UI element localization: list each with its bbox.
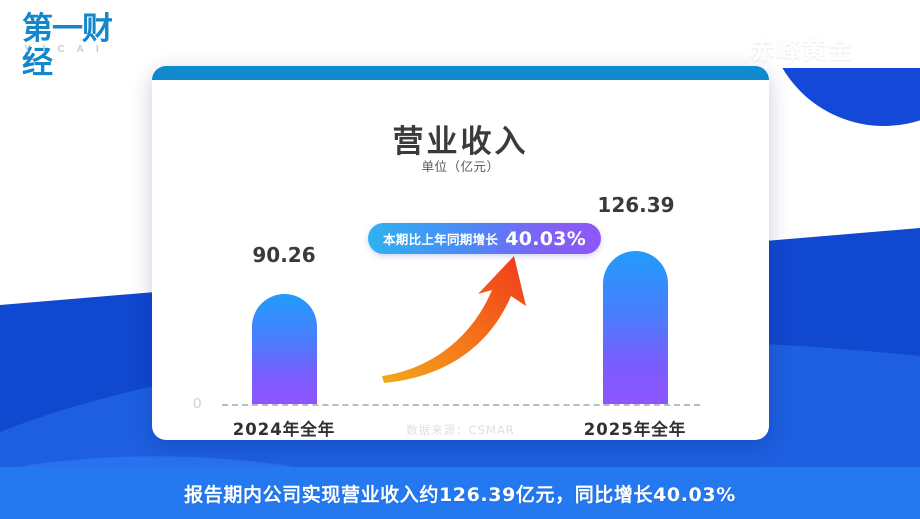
card-accent-strip bbox=[152, 66, 769, 80]
growth-badge: 本期比上年同期增长 40.03% bbox=[368, 223, 601, 254]
brand-logo-latin: YICAI bbox=[24, 44, 111, 55]
bar-2024 bbox=[252, 294, 317, 404]
caption-text: 报告期内公司实现营业收入约126.39亿元，同比增长40.03% bbox=[184, 480, 736, 507]
brand-logo: 第一财经 YICAI bbox=[22, 10, 140, 58]
caption-band: 报告期内公司实现营业收入约126.39亿元，同比增长40.03% bbox=[0, 467, 920, 519]
axis-zero-label: 0 bbox=[193, 395, 201, 412]
growth-label: 本期比上年同期增长 bbox=[383, 229, 498, 248]
bar-chart-plot: 0 90.26 2024年全年 126.39 2025年全年 bbox=[152, 80, 769, 440]
growth-value: 40.03% bbox=[505, 228, 586, 250]
card-body: 营业收入 单位（亿元） 0 90.26 2024年全年 126.39 2025年… bbox=[152, 80, 769, 440]
company-name: 赤峰黄金 bbox=[718, 30, 886, 65]
chart-card: 营业收入 单位（亿元） 0 90.26 2024年全年 126.39 2025年… bbox=[152, 66, 769, 440]
header-right-group: 1分钟看财报 赤峰黄金 bbox=[718, 6, 886, 65]
growth-arrow-icon bbox=[374, 250, 544, 385]
bar-value-label: 90.26 bbox=[224, 243, 344, 267]
baseline-dashed bbox=[222, 404, 700, 406]
series-badge: 1分钟看财报 bbox=[763, 6, 840, 25]
bar-value-label: 126.39 bbox=[576, 193, 696, 217]
data-source-note: 数据来源：CSMAR bbox=[152, 422, 769, 438]
bar-2025 bbox=[603, 251, 668, 405]
